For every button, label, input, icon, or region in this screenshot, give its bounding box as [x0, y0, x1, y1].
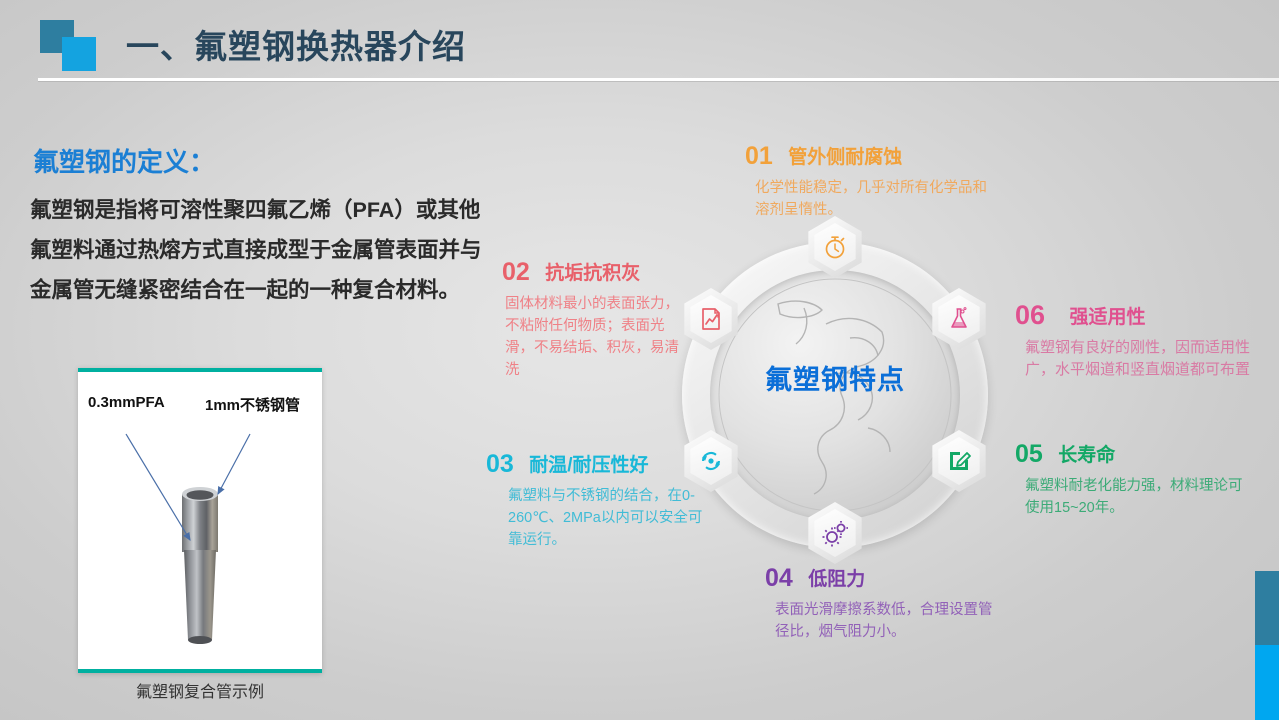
- edit-pencil-icon: [946, 448, 972, 474]
- feature-title: 耐温/耐压性好: [529, 450, 648, 477]
- pipe-illustration: [78, 372, 322, 669]
- feature-item-02: 02 抗垢抗积灰 固体材料最小的表面张力，不粘附任何物质；表面光滑，不易结垢、积…: [502, 258, 692, 381]
- feature-desc: 氟塑料与不锈钢的结合，在0-260℃、2MPa以内可以安全可靠运行。: [508, 485, 716, 551]
- badge-edit[interactable]: [928, 430, 990, 492]
- definition-heading: 氟塑钢的定义：: [33, 142, 215, 179]
- badge-gears[interactable]: [804, 502, 866, 564]
- stopwatch-icon: [822, 234, 848, 260]
- header-divider: [38, 78, 1279, 81]
- feature-number: 03: [486, 450, 514, 479]
- feature-number: 01: [745, 142, 773, 171]
- slide: 一、氟塑钢换热器介绍 氟塑钢的定义： 氟塑钢是指将可溶性聚四氟乙烯（PFA）或其…: [0, 0, 1279, 720]
- badge-flask[interactable]: [928, 288, 990, 350]
- feature-desc: 固体材料最小的表面张力，不粘附任何物质；表面光滑，不易结垢、积灰，易清洗: [505, 293, 692, 381]
- feature-item-05: 05 长寿命 氟塑料耐老化能力强，材料理论可使用15~20年。: [1015, 440, 1250, 519]
- edge-accent-blue: [1255, 645, 1279, 720]
- feature-number: 05: [1015, 440, 1043, 469]
- feature-title: 低阻力: [808, 564, 865, 591]
- feature-title: 管外侧耐腐蚀: [788, 142, 902, 169]
- feature-title: 抗垢抗积灰: [545, 258, 640, 285]
- center-label: 氟塑钢特点: [670, 358, 1000, 397]
- feature-number: 02: [502, 258, 530, 287]
- photo-label-pfa: 0.3mmPFA: [88, 394, 165, 411]
- feature-number: 06: [1015, 300, 1045, 331]
- feature-item-01: 01 管外侧耐腐蚀 化学性能稳定，几乎对所有化学品和溶剂呈惰性。: [745, 142, 995, 221]
- feature-item-06: 06 强适用性 氟塑钢有良好的刚性，因而适用性广，水平烟道和竖直烟道都可布置: [1015, 300, 1260, 381]
- page-title: 一、氟塑钢换热器介绍: [126, 20, 466, 68]
- pipe-photo: 0.3mmPFA 1mm不锈钢管: [78, 372, 322, 669]
- feature-title: 强适用性: [1070, 302, 1146, 329]
- photo-label-steel-tube: 1mm不锈钢管: [205, 394, 300, 415]
- edge-accent-teal: [1255, 571, 1279, 645]
- feature-desc: 化学性能稳定，几乎对所有化学品和溶剂呈惰性。: [755, 177, 995, 221]
- feature-desc: 氟塑钢有良好的刚性，因而适用性广，水平烟道和竖直烟道都可布置: [1025, 337, 1260, 381]
- feature-number: 04: [765, 564, 793, 593]
- pipe-photo-card: 0.3mmPFA 1mm不锈钢管: [78, 368, 322, 673]
- feature-title: 长寿命: [1058, 440, 1115, 467]
- gears-icon: [822, 520, 849, 547]
- definition-paragraph: 氟塑钢是指将可溶性聚四氟乙烯（PFA）或其他氟塑料通过热熔方式直接成型于金属管表…: [30, 190, 490, 310]
- chart-document-icon: [698, 306, 724, 332]
- features-infographic: 氟塑钢特点: [470, 120, 1260, 720]
- photo-bottom-accent: [78, 669, 322, 673]
- feature-desc: 氟塑料耐老化能力强，材料理论可使用15~20年。: [1025, 475, 1250, 519]
- feature-item-04: 04 低阻力 表面光滑摩擦系数低，合理设置管径比，烟气阻力小。: [765, 564, 995, 643]
- feature-item-03: 03 耐温/耐压性好 氟塑料与不锈钢的结合，在0-260℃、2MPa以内可以安全…: [486, 450, 716, 551]
- badge-stopwatch[interactable]: [804, 216, 866, 278]
- feature-ring: 氟塑钢特点: [670, 230, 1000, 560]
- photo-caption: 氟塑钢复合管示例: [78, 678, 322, 702]
- flask-icon: [946, 306, 972, 332]
- header-square-light: [62, 37, 96, 71]
- feature-desc: 表面光滑摩擦系数低，合理设置管径比，烟气阻力小。: [775, 599, 995, 643]
